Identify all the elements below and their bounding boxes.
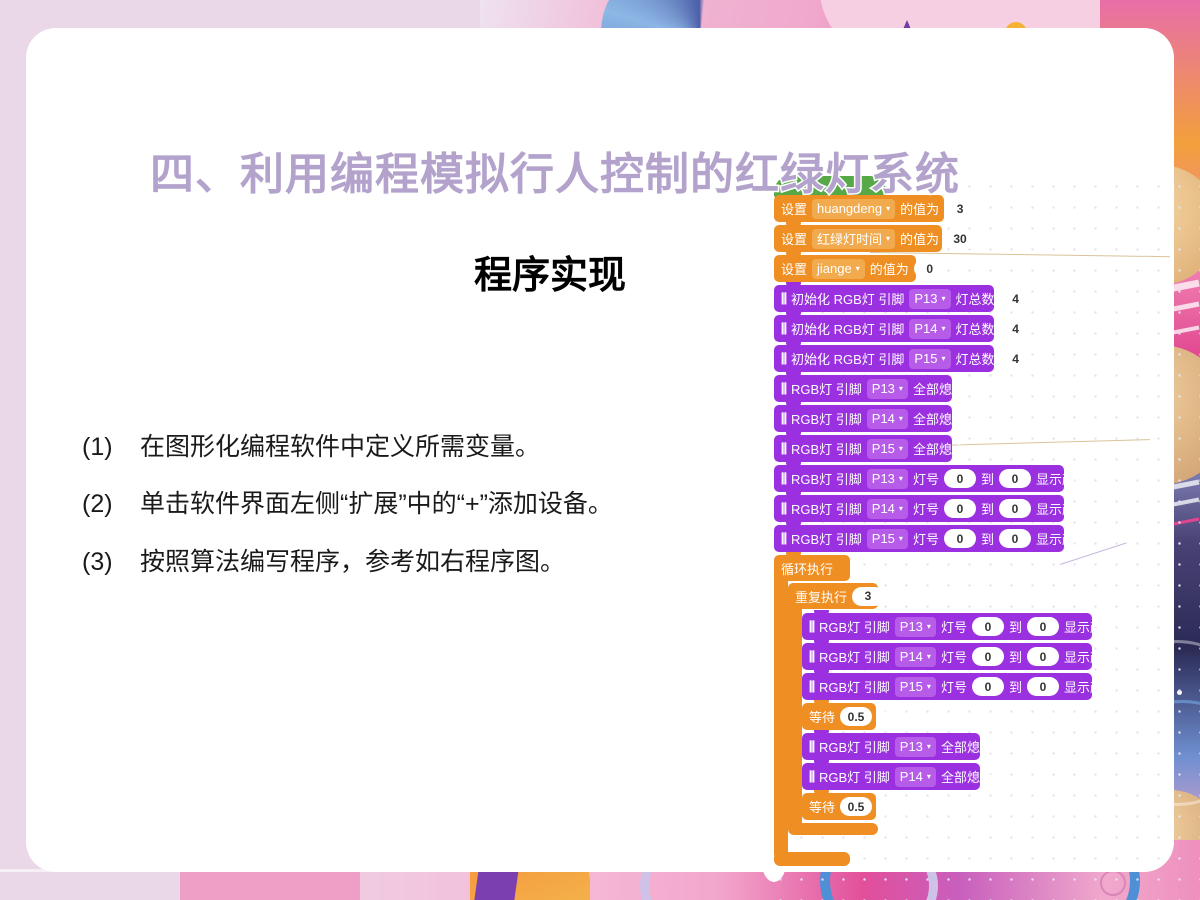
list-item-text: 按照算法编写程序，参考如右程序图。 xyxy=(140,547,722,578)
list-item-text: 单击软件界面左侧“扩展”中的“+”添加设备。 xyxy=(140,489,722,520)
rgb-show-color-block[interactable]: ⫼ RGB灯 引脚 P15 ▾ 灯号 0 到 0 显示颜色 xyxy=(802,673,1092,700)
chevron-down-icon: ▾ xyxy=(927,743,931,751)
pin-value: P13 xyxy=(900,619,923,634)
rgb-strip-icon: ⫼ xyxy=(781,349,786,368)
rgb-strip-icon: ⫼ xyxy=(781,319,786,338)
rgb-all-off-block[interactable]: ⫼ RGB灯 引脚 P13 ▾ 全部熄灭 xyxy=(774,375,952,402)
led-from-value[interactable]: 0 xyxy=(944,499,976,518)
repeat-loop-footer[interactable] xyxy=(788,823,878,835)
chevron-down-icon: ▾ xyxy=(927,773,931,781)
pin-value: P14 xyxy=(900,769,923,784)
init-rgb-label: 初始化 RGB灯 引脚 xyxy=(791,319,904,338)
pin-dropdown[interactable]: P15 ▾ xyxy=(909,349,950,369)
rgb-all-off-block[interactable]: ⫼ RGB灯 引脚 P14 ▾ 全部熄灭 xyxy=(774,405,952,432)
pin-dropdown[interactable]: P13 ▾ xyxy=(895,617,936,637)
forever-loop-footer[interactable] xyxy=(774,852,850,866)
pin-dropdown[interactable]: P14 ▾ xyxy=(867,409,908,429)
pin-value: P13 xyxy=(872,471,895,486)
rgb-pin-label: RGB灯 引脚 xyxy=(791,469,862,488)
pin-dropdown[interactable]: P13 ▾ xyxy=(867,379,908,399)
chevron-down-icon: ▾ xyxy=(899,385,903,393)
pin-dropdown[interactable]: P15 ▾ xyxy=(867,529,908,549)
led-to-value[interactable]: 0 xyxy=(999,499,1031,518)
rgb-strip-icon: ⫼ xyxy=(809,647,814,666)
repeat-loop-header[interactable]: 重复执行 3 次 xyxy=(788,583,878,609)
rgb-strip-icon: ⫼ xyxy=(809,677,814,696)
pin-value: P15 xyxy=(872,531,895,546)
repeat-label: 重复执行 xyxy=(795,587,847,606)
chevron-down-icon: ▾ xyxy=(899,535,903,543)
init-rgb-block[interactable]: ⫼ 初始化 RGB灯 引脚 P15 ▾ 灯总数 4 xyxy=(774,345,994,372)
rgb-strip-icon: ⫼ xyxy=(781,499,786,518)
chevron-down-icon: ▾ xyxy=(927,623,931,631)
wait-block[interactable]: 等待 0.5 秒 xyxy=(802,703,876,730)
steps-list: (1) 在图形化编程软件中定义所需变量。 (2) 单击软件界面左侧“扩展”中的“… xyxy=(82,432,722,604)
init-rgb-block[interactable]: ⫼ 初始化 RGB灯 引脚 P14 ▾ 灯总数 4 xyxy=(774,315,994,342)
led-from-value[interactable]: 0 xyxy=(972,647,1004,666)
rgb-pin-label: RGB灯 引脚 xyxy=(791,499,862,518)
rgb-pin-label: RGB灯 引脚 xyxy=(819,677,890,696)
show-color-label: 显示颜色 xyxy=(1064,647,1116,666)
pin-value: P14 xyxy=(872,411,895,426)
led-to-value[interactable]: 0 xyxy=(1027,647,1059,666)
init-rgb-label: 初始化 RGB灯 引脚 xyxy=(791,349,904,368)
all-off-label: 全部熄灭 xyxy=(913,439,965,458)
pin-dropdown[interactable]: P14 ▾ xyxy=(909,319,950,339)
pin-dropdown[interactable]: P15 ▾ xyxy=(895,677,936,697)
rgb-pin-label: RGB灯 引脚 xyxy=(819,617,890,636)
pin-dropdown[interactable]: P14 ▾ xyxy=(867,499,908,519)
rgb-pin-label: RGB灯 引脚 xyxy=(819,647,890,666)
pin-value: P15 xyxy=(900,679,923,694)
rgb-strip-icon: ⫼ xyxy=(809,617,814,636)
rgb-strip-icon: ⫼ xyxy=(781,469,786,488)
show-color-label: 显示颜色 xyxy=(1036,469,1088,488)
repeat-loop-left-bar[interactable] xyxy=(788,583,802,833)
chevron-down-icon: ▾ xyxy=(942,325,946,333)
led-no-label: 灯号 xyxy=(941,617,967,636)
forever-loop-header[interactable]: 循环执行 xyxy=(774,555,850,581)
repeat-count-value[interactable]: 3 xyxy=(852,587,884,606)
pin-value: P15 xyxy=(914,351,937,366)
rgb-pin-label: RGB灯 引脚 xyxy=(791,379,862,398)
to-label: 到 xyxy=(981,469,994,488)
show-color-label: 显示颜色 xyxy=(1036,529,1088,548)
led-from-value[interactable]: 0 xyxy=(972,617,1004,636)
rgb-all-off-block[interactable]: ⫼ RGB灯 引脚 P15 ▾ 全部熄灭 xyxy=(774,435,952,462)
led-no-label: 灯号 xyxy=(913,529,939,548)
all-off-label: 全部熄灭 xyxy=(941,767,993,786)
wait-seconds-value[interactable]: 0.5 xyxy=(840,707,872,726)
wait-block[interactable]: 等待 0.5 秒 xyxy=(802,793,876,820)
all-off-label: 全部熄灭 xyxy=(941,737,993,756)
rgb-pin-label: RGB灯 引脚 xyxy=(791,529,862,548)
list-item: (2) 单击软件界面左侧“扩展”中的“+”添加设备。 xyxy=(82,489,722,520)
led-from-value[interactable]: 0 xyxy=(944,529,976,548)
rgb-show-color-block[interactable]: ⫼ RGB灯 引脚 P14 ▾ 灯号 0 到 0 显示颜色 xyxy=(802,643,1092,670)
list-item-number: (1) xyxy=(82,432,140,463)
to-label: 到 xyxy=(981,529,994,548)
forever-label: 循环执行 xyxy=(781,559,833,578)
led-total-value[interactable]: 4 xyxy=(1000,319,1032,338)
rgb-show-color-block[interactable]: ⫼ RGB灯 引脚 P13 ▾ 灯号 0 到 0 显示颜色 xyxy=(774,465,1064,492)
led-from-value[interactable]: 0 xyxy=(944,469,976,488)
to-label: 到 xyxy=(1009,617,1022,636)
pin-dropdown[interactable]: P14 ▾ xyxy=(895,767,936,787)
page-title: 四、利用编程模拟行人控制的红绿灯系统 xyxy=(150,138,910,202)
wait-seconds-value[interactable]: 0.5 xyxy=(840,797,872,816)
list-item: (3) 按照算法编写程序，参考如右程序图。 xyxy=(82,547,722,578)
rgb-strip-icon: ⫼ xyxy=(781,379,786,398)
led-no-label: 灯号 xyxy=(941,647,967,666)
chevron-down-icon: ▾ xyxy=(899,505,903,513)
pin-value: P13 xyxy=(872,381,895,396)
pin-dropdown[interactable]: P13 ▾ xyxy=(895,737,936,757)
pin-dropdown[interactable]: P15 ▾ xyxy=(867,439,908,459)
rgb-strip-icon: ⫼ xyxy=(781,529,786,548)
rgb-show-color-block[interactable]: ⫼ RGB灯 引脚 P14 ▾ 灯号 0 到 0 显示颜色 xyxy=(774,495,1064,522)
pin-dropdown[interactable]: P13 ▾ xyxy=(867,469,908,489)
rgb-strip-icon: ⫼ xyxy=(781,409,786,428)
to-label: 到 xyxy=(1009,647,1022,666)
rgb-show-color-block[interactable]: ⫼ RGB灯 引脚 P15 ▾ 灯号 0 到 0 显示颜色 xyxy=(774,525,1064,552)
all-off-label: 全部熄灭 xyxy=(913,409,965,428)
led-no-label: 灯号 xyxy=(913,469,939,488)
rgb-pin-label: RGB灯 引脚 xyxy=(791,439,862,458)
led-no-label: 灯号 xyxy=(941,677,967,696)
forever-loop-left-bar[interactable] xyxy=(774,555,788,860)
times-label: 次 xyxy=(889,587,902,606)
chevron-down-icon: ▾ xyxy=(886,205,890,213)
led-to-value[interactable]: 0 xyxy=(999,469,1031,488)
pin-value: P14 xyxy=(914,321,937,336)
led-from-value[interactable]: 0 xyxy=(972,677,1004,696)
to-label: 到 xyxy=(981,499,994,518)
chevron-down-icon: ▾ xyxy=(899,475,903,483)
list-item-number: (2) xyxy=(82,489,140,520)
seconds-label: 秒 xyxy=(877,797,890,816)
led-total-value[interactable]: 4 xyxy=(1000,349,1032,368)
chevron-down-icon: ▾ xyxy=(899,445,903,453)
chevron-down-icon: ▾ xyxy=(927,653,931,661)
wait-label: 等待 xyxy=(809,797,835,816)
chevron-down-icon: ▾ xyxy=(886,235,890,243)
show-color-label: 显示颜色 xyxy=(1064,677,1116,696)
rgb-show-color-block[interactable]: ⫼ RGB灯 引脚 P13 ▾ 灯号 0 到 0 显示颜色 xyxy=(802,613,1092,640)
show-color-label: 显示颜色 xyxy=(1064,617,1116,636)
pin-dropdown[interactable]: P14 ▾ xyxy=(895,647,936,667)
led-total-label: 灯总数 xyxy=(956,349,995,368)
rgb-all-off-block[interactable]: ⫼ RGB灯 引脚 P14 ▾ 全部熄灭 xyxy=(802,763,980,790)
pin-value: P15 xyxy=(872,441,895,456)
chevron-down-icon: ▾ xyxy=(942,355,946,363)
variable-name: huangdeng xyxy=(817,201,882,216)
all-off-label: 全部熄灭 xyxy=(913,379,965,398)
page-subtitle: 程序实现 xyxy=(0,244,1100,299)
seconds-label: 秒 xyxy=(877,707,890,726)
pin-value: P14 xyxy=(872,501,895,516)
pin-value: P14 xyxy=(900,649,923,664)
rgb-pin-label: RGB灯 引脚 xyxy=(819,767,890,786)
wait-label: 等待 xyxy=(809,707,835,726)
led-to-value[interactable]: 0 xyxy=(1027,677,1059,696)
rgb-strip-icon: ⫼ xyxy=(809,737,814,756)
led-to-value[interactable]: 0 xyxy=(1027,617,1059,636)
rgb-pin-label: RGB灯 引脚 xyxy=(791,409,862,428)
list-item-text: 在图形化编程软件中定义所需变量。 xyxy=(140,432,722,463)
to-label: 到 xyxy=(1009,677,1022,696)
chevron-down-icon: ▾ xyxy=(899,415,903,423)
show-color-label: 显示颜色 xyxy=(1036,499,1088,518)
list-item-number: (3) xyxy=(82,547,140,578)
chevron-down-icon: ▾ xyxy=(927,683,931,691)
variable-value[interactable]: 3 xyxy=(944,199,976,218)
rgb-strip-icon: ⫼ xyxy=(781,439,786,458)
rgb-all-off-block[interactable]: ⫼ RGB灯 引脚 P13 ▾ 全部熄灭 xyxy=(802,733,980,760)
rgb-pin-label: RGB灯 引脚 xyxy=(819,737,890,756)
led-no-label: 灯号 xyxy=(913,499,939,518)
led-to-value[interactable]: 0 xyxy=(999,529,1031,548)
led-total-label: 灯总数 xyxy=(956,319,995,338)
pin-value: P13 xyxy=(900,739,923,754)
list-item: (1) 在图形化编程软件中定义所需变量。 xyxy=(82,432,722,463)
rgb-strip-icon: ⫼ xyxy=(809,767,814,786)
